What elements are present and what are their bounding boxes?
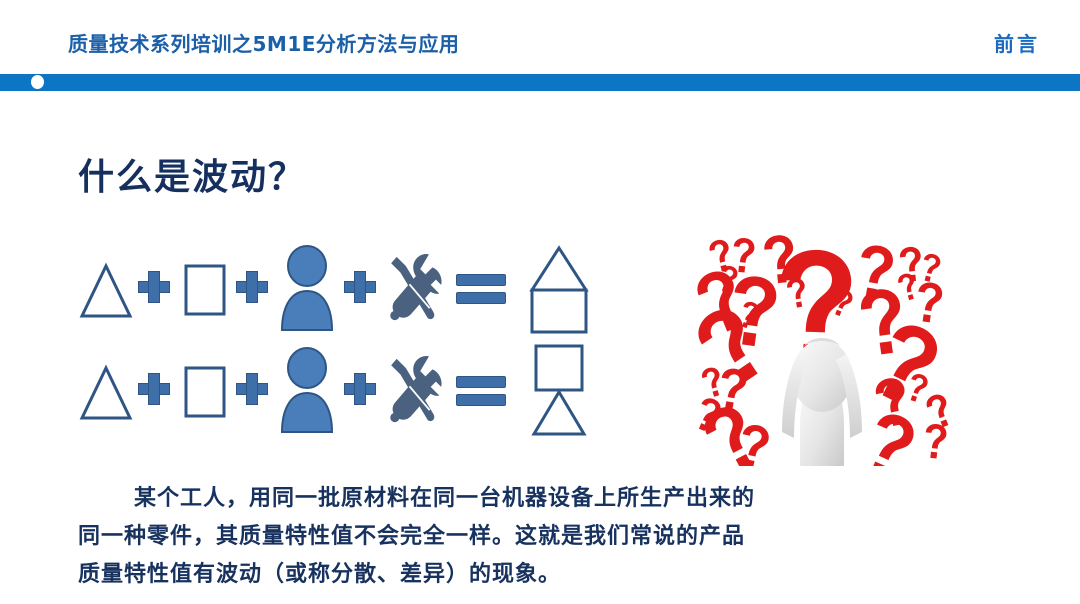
body-line: 某个工人，用同一批原材料在同一台机器设备上所生产出来的	[78, 480, 1018, 518]
tools-icon	[382, 238, 448, 338]
tools-icon	[382, 340, 448, 440]
triangle-icon	[78, 238, 134, 338]
page-title: 什么是波动？	[78, 148, 306, 200]
body-line: 质量特性值有波动（或称分散、差异）的现象。	[78, 556, 1018, 594]
equals-icon	[448, 340, 514, 440]
plus-icon	[340, 340, 382, 440]
square-icon	[176, 238, 232, 338]
equation-row	[78, 340, 658, 440]
header-bar-dot-marker	[31, 75, 44, 89]
slide: 质量技术系列培训之5M1E分析方法与应用 前言 什么是波动？	[0, 0, 1080, 604]
plus-icon	[232, 340, 274, 440]
equation-row	[78, 238, 658, 338]
square-icon	[176, 340, 232, 440]
plus-icon	[134, 340, 176, 440]
slide-header: 质量技术系列培训之5M1E分析方法与应用 前言	[0, 0, 1080, 74]
body-paragraph: 某个工人，用同一批原材料在同一台机器设备上所生产出来的 同一种零件，其质量特性值…	[78, 480, 1018, 594]
confused-person-image	[682, 226, 962, 466]
person-icon	[274, 340, 340, 440]
header-section-label: 前言	[994, 28, 1040, 57]
plus-icon	[134, 238, 176, 338]
unstable-shape-icon	[514, 340, 604, 440]
header-accent-bar	[0, 74, 1080, 91]
equation-diagram	[78, 238, 658, 458]
house-shape-icon	[514, 238, 604, 338]
plus-icon	[340, 238, 382, 338]
header-title: 质量技术系列培训之5M1E分析方法与应用	[68, 28, 459, 57]
person-icon	[274, 238, 340, 338]
plus-icon	[232, 238, 274, 338]
body-line: 同一种零件，其质量特性值不会完全一样。这就是我们常说的产品	[78, 518, 1018, 556]
equals-icon	[448, 238, 514, 338]
triangle-icon	[78, 340, 134, 440]
